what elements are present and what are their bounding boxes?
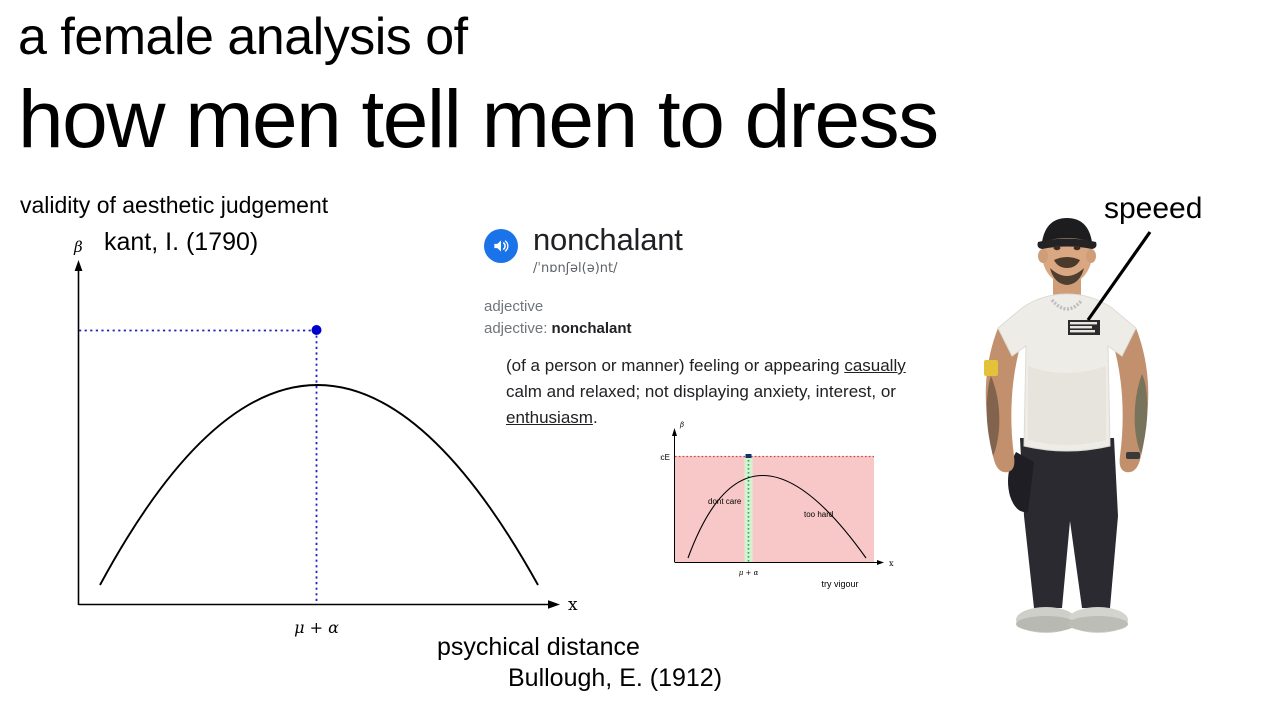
armband (984, 360, 998, 376)
bottom-caption-line-2: Bullough, E. (1912) (508, 664, 722, 693)
inset-x-axis-label: x (889, 559, 894, 568)
inset-peak-tick-label: μ + α (739, 569, 759, 577)
main-chart-peak-tick-label: μ + α (294, 618, 339, 637)
dictionary-headword-line: adjective: nonchalant (484, 318, 924, 340)
definition-text-part-1: (of a person or manner) feeling or appea… (506, 356, 844, 375)
speaker-icon[interactable] (484, 229, 518, 263)
dictionary-headword-word: nonchalant (552, 320, 632, 337)
dictionary-phonetic: /ˈnɒnʃəl(ə)nt/ (533, 261, 683, 276)
definition-text-part-3: . (593, 408, 598, 427)
slide-canvas: a female analysis of how men tell men to… (0, 0, 1280, 720)
main-chart-y-axis-label: β (73, 238, 83, 256)
inset-right-region-label: too hard (804, 510, 833, 519)
inset-peak-marker (746, 454, 752, 458)
inset-chart: saucE β x dont care too hard μ + α try v… (660, 415, 920, 595)
dictionary-word-block: nonchalant /ˈnɒnʃəl(ə)nt/ (533, 222, 683, 276)
bottom-caption-line-1: psychical distance (437, 633, 640, 662)
shoe-left-sole (1016, 616, 1076, 632)
main-chart-curve (100, 385, 538, 585)
inset-left-region-label: dont care (708, 497, 742, 506)
dictionary-headword-prefix: adjective: (484, 320, 552, 337)
shirt-shading (1028, 366, 1106, 445)
title-line-2: how men tell men to dress (18, 72, 938, 168)
main-chart-guide-lines (79, 330, 317, 604)
definition-link-casually[interactable]: casually (844, 356, 905, 375)
dictionary-entry: nonchalant /ˈnɒnʃəl(ə)nt/ adjective adje… (484, 222, 924, 431)
pointer-line-arrow (1040, 220, 1170, 350)
definition-text-part-2: calm and relaxed; not displaying anxiety… (506, 382, 896, 401)
inset-bottom-caption: try vigour (821, 579, 858, 589)
wristband (1126, 452, 1140, 459)
definition-link-enthusiasm[interactable]: enthusiasm (506, 408, 593, 427)
main-chart-peak-marker (312, 325, 322, 335)
main-chart-caption: validity of aesthetic judgement (20, 192, 328, 219)
main-chart-x-axis-label: x (568, 595, 578, 615)
pants (1020, 438, 1118, 608)
inset-shade-region (674, 456, 874, 562)
dictionary-word: nonchalant (533, 222, 683, 258)
inset-y-axis-label: β (679, 421, 684, 429)
inset-y-top-label: saucE (660, 453, 670, 462)
dictionary-header: nonchalant /ˈnɒnʃəl(ə)nt/ (484, 222, 924, 276)
shoe-right-sole (1068, 616, 1128, 632)
title-line-1: a female analysis of (18, 6, 468, 68)
dictionary-part-of-speech: adjective (484, 296, 924, 318)
